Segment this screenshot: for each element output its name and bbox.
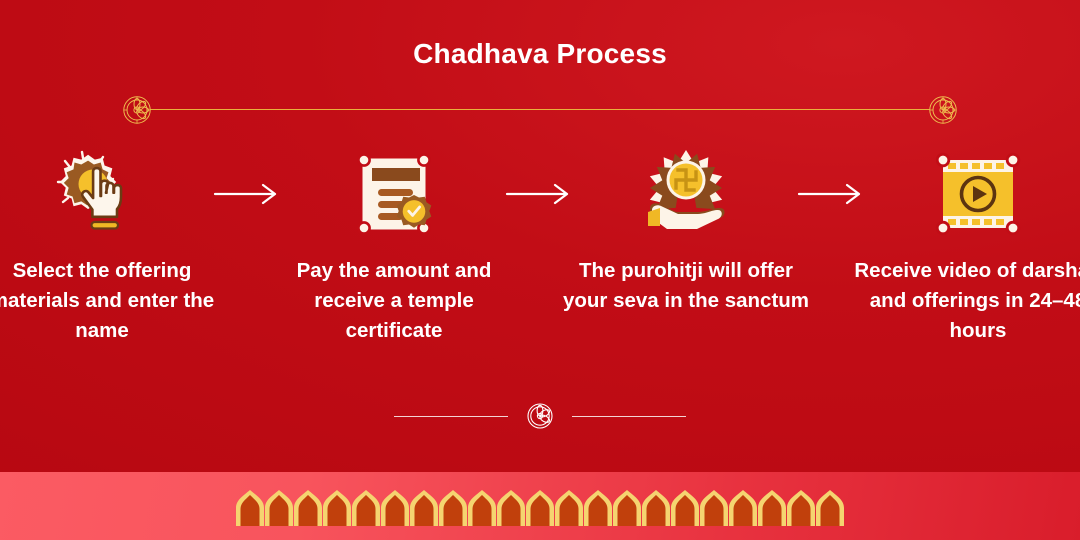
temple-arch-band — [236, 490, 844, 526]
video-film-play-icon — [928, 146, 1028, 242]
process-step-2: Pay the amount and receive a temple cert… — [286, 146, 502, 346]
rosette-icon — [524, 400, 556, 432]
bottom-ornament-rule — [0, 398, 1080, 434]
page-title: Chadhava Process — [0, 38, 1080, 70]
mandala-icon — [926, 93, 960, 127]
process-step-1-label: Select the offering materials and enter … — [0, 256, 232, 346]
process-step-3: The purohitji will offer your seva in th… — [578, 146, 794, 316]
mandala-icon — [120, 93, 154, 127]
process-step-4-label: Receive video of darshan and offerings i… — [848, 256, 1080, 346]
certificate-scroll-seal-icon — [344, 146, 444, 242]
process-step-3-label: The purohitji will offer your seva in th… — [556, 256, 816, 316]
chadhava-process-banner: Chadhava Process — [0, 0, 1080, 540]
top-ornament-rule — [120, 93, 960, 127]
bottom-rule-line-left — [394, 416, 508, 417]
bottom-rule-line-right — [572, 416, 686, 417]
hand-select-badge-icon — [52, 146, 152, 242]
arrow-right-icon — [210, 146, 286, 242]
hands-offering-lotus-swastika-icon — [636, 146, 736, 242]
footer-band — [0, 472, 1080, 540]
process-step-1: Select the offering materials and enter … — [0, 146, 210, 346]
arrow-right-icon — [794, 146, 870, 242]
arrow-right-icon — [502, 146, 578, 242]
process-step-2-label: Pay the amount and receive a temple cert… — [264, 256, 524, 346]
process-step-4: Receive video of darshan and offerings i… — [870, 146, 1080, 346]
process-steps: Select the offering materials and enter … — [0, 146, 1080, 366]
top-rule-line — [150, 109, 930, 110]
